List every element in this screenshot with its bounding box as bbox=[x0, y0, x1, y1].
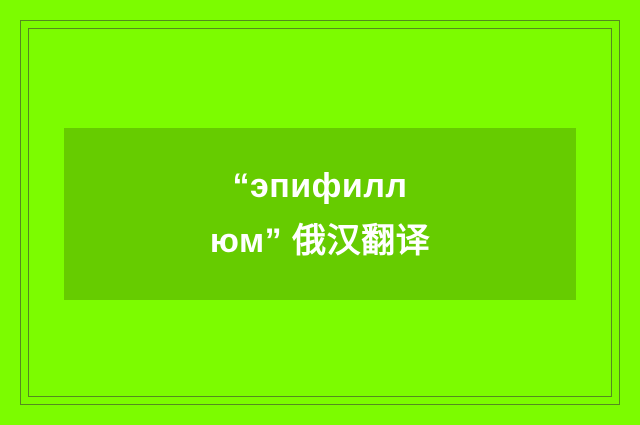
title-line-1: “эпифилл bbox=[232, 159, 407, 214]
title-panel: “эпифилл юм” 俄汉翻译 bbox=[64, 128, 576, 300]
title-line-2: юм” 俄汉翻译 bbox=[210, 214, 430, 269]
banner-canvas: “эпифилл юм” 俄汉翻译 bbox=[0, 0, 640, 425]
